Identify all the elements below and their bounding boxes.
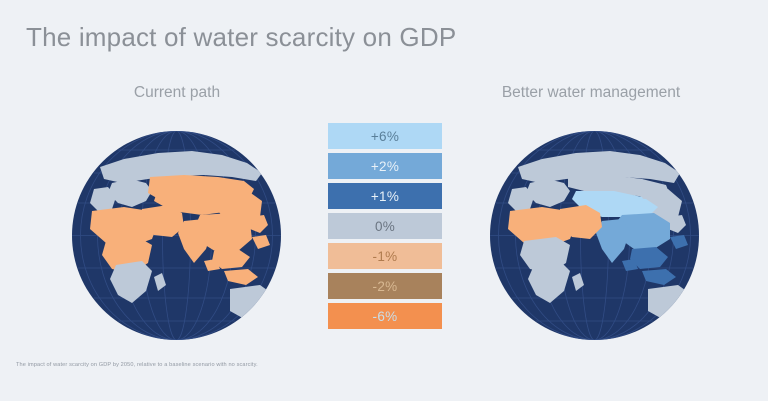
legend-label: +2% <box>371 159 399 174</box>
legend-band-zero[interactable]: 0% <box>328 213 442 239</box>
legend-label: -2% <box>373 279 398 294</box>
legend-label: -6% <box>373 309 398 324</box>
legend-label: 0% <box>375 219 395 234</box>
page-title: The impact of water scarcity on GDP <box>26 22 456 53</box>
globe-better-water-management <box>490 131 699 340</box>
globe-current-path <box>72 131 281 340</box>
legend-band-plus1[interactable]: +1% <box>328 183 442 209</box>
legend: +6% +2% +1% 0% -1% -2% -6% <box>328 123 442 329</box>
footnote: The impact of water scarcity on GDP by 2… <box>16 362 258 368</box>
legend-band-minus1[interactable]: -1% <box>328 243 442 269</box>
panel-heading-better-water-management: Better water management <box>414 84 768 102</box>
legend-band-minus6[interactable]: -6% <box>328 303 442 329</box>
panel-heading-current-path: Current path <box>0 84 354 102</box>
legend-band-plus2[interactable]: +2% <box>328 153 442 179</box>
infographic-canvas: The impact of water scarcity on GDP Curr… <box>0 0 768 401</box>
legend-label: -1% <box>373 249 398 264</box>
legend-band-plus6[interactable]: +6% <box>328 123 442 149</box>
legend-band-minus2[interactable]: -2% <box>328 273 442 299</box>
legend-label: +1% <box>371 189 399 204</box>
legend-label: +6% <box>371 129 399 144</box>
